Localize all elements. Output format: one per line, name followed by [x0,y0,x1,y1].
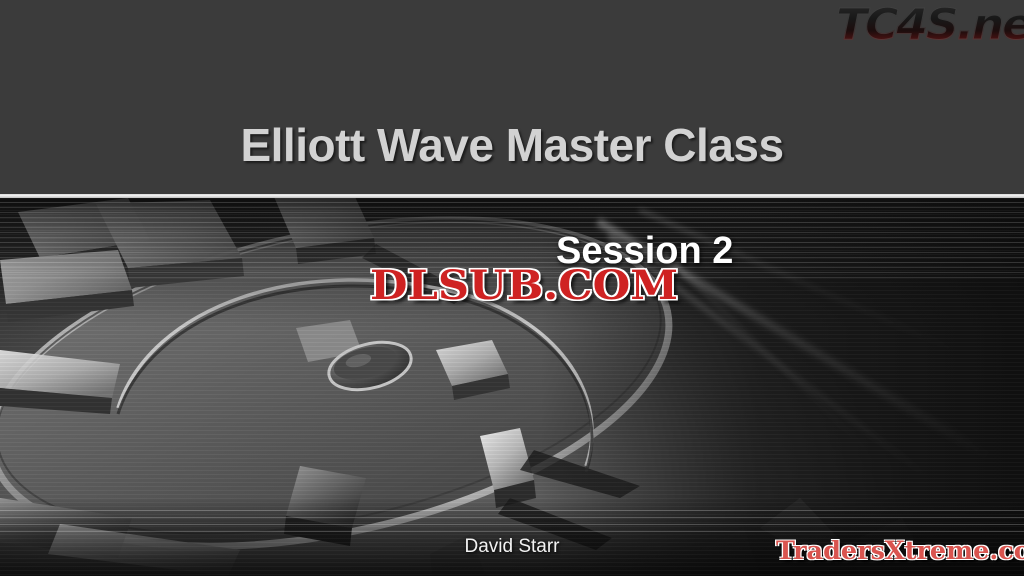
bottom-streak-lines [0,510,1024,536]
clock-dial-graphic [0,198,1024,576]
slide-title: Elliott Wave Master Class [0,118,1024,172]
slide-background-image [0,198,1024,576]
watermark-dlsub: DLSUB.COM [370,262,678,309]
scanline-overlay [0,198,1024,576]
presentation-slide: Elliott Wave Master Class [0,0,1024,576]
header-divider [0,194,1024,198]
light-ray-4 [658,248,897,479]
watermark-tc4s: TC4S.net [836,0,1024,50]
watermark-tradersxtreme: TradersXtreme.com [776,536,1024,565]
